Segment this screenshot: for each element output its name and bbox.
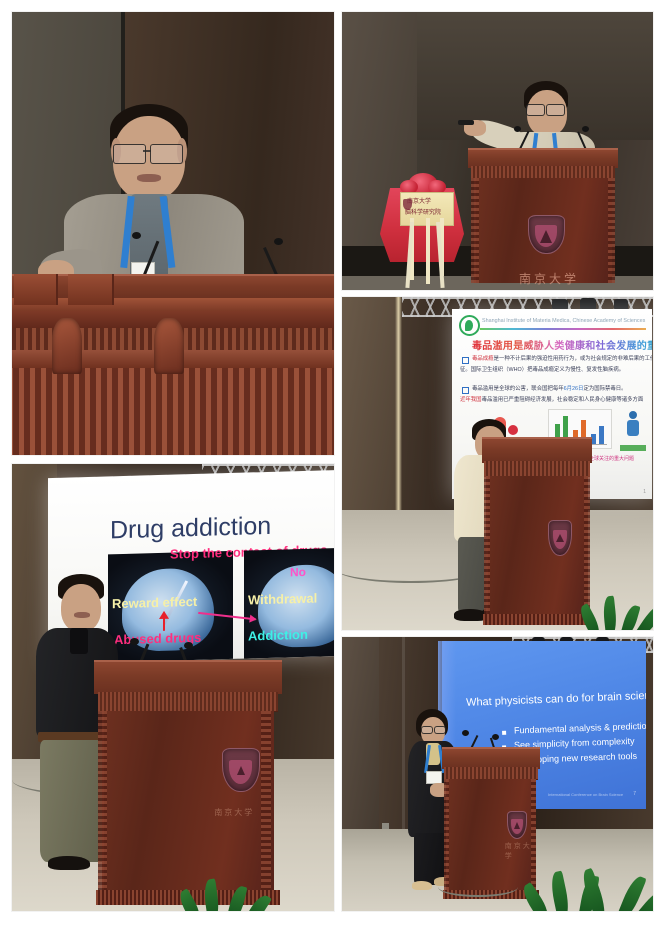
simm-logo-icon xyxy=(459,315,480,336)
podium-university-name: 南京大学 xyxy=(513,270,585,287)
crest-pagoda-icon xyxy=(540,230,552,243)
slide-bullet-2-line-2-text: 毒品滥用已严重阻碍经济发展，社会稳定和人民身心健康等诸多方面 xyxy=(482,397,644,403)
decorative-plant xyxy=(588,590,653,630)
plant-leaf-3 xyxy=(226,884,247,911)
podium-pilaster-left xyxy=(471,178,479,283)
podium-base xyxy=(483,614,591,625)
plaque-ribbon-2 xyxy=(426,218,430,284)
wooden-podium: 南京大学 xyxy=(442,747,540,899)
podium-body xyxy=(102,711,275,892)
microphone-head-right xyxy=(184,642,193,649)
presentation-clicker xyxy=(458,120,474,125)
speaker-mouth xyxy=(74,612,90,618)
crest-pagoda-icon xyxy=(237,766,245,775)
podium-pilaster-right xyxy=(261,711,270,892)
illustration-person-body xyxy=(627,420,639,436)
wooden-podium: 南京大学 xyxy=(468,148,618,290)
podium-pilaster-right xyxy=(531,779,536,892)
eyeglasses-right-lens-icon xyxy=(434,726,446,734)
eyeglasses-left-lens-icon xyxy=(421,726,433,734)
podium-top-rail xyxy=(94,660,282,694)
wooden-podium xyxy=(482,437,592,625)
speaker-collar xyxy=(70,628,88,654)
wooden-podium xyxy=(12,274,334,455)
slide-bullet-2-line-2: 近年我国毒品滥用已严重阻碍经济发展，社会稳定和人民身心健康等诸多方面 xyxy=(460,395,643,403)
microphone-head-right xyxy=(582,126,589,132)
podium-top-rail xyxy=(482,437,592,463)
podium-dentil-band xyxy=(12,368,334,455)
label-no: No xyxy=(290,565,306,579)
slide-footer: International Conference on Brain Scienc… xyxy=(548,792,623,797)
slide-bullet-1: Fundamental analysis & predictions xyxy=(514,721,646,736)
speaker-shoe xyxy=(48,856,90,870)
microphone-head-right xyxy=(492,734,499,740)
plant-leaf-2 xyxy=(602,596,618,630)
chart-bar-6 xyxy=(599,426,604,444)
slide-title: Drug addiction xyxy=(110,512,271,546)
microphone-head-right xyxy=(274,238,283,245)
podium-top-rail xyxy=(12,274,334,300)
podium-pilaster-right xyxy=(608,178,616,283)
eyeglasses-right-lens-icon xyxy=(150,144,183,164)
floor-cable xyxy=(438,877,518,897)
arrow-up-red-head xyxy=(159,611,169,619)
panel-brain-science-physics-lecture[interactable]: What physicists can do for brain science… xyxy=(342,637,653,911)
unveiling-plaque-assembly: 南京大学 脑科学研究院 xyxy=(380,170,464,290)
slide-bullet-1-line-1: 毒品成瘾是一种不计后果的强迫性用药行为，或为社会规定的非难后果的工作行 xyxy=(472,354,652,362)
slide-page-number: 1 xyxy=(643,489,646,495)
slide-bullet-2-text-2: 定为国际禁毒日。 xyxy=(583,386,626,392)
plant-leaf-2 xyxy=(202,879,221,911)
podium-reed-band xyxy=(484,461,590,477)
slide-bullet-marker-2 xyxy=(462,387,469,394)
brain-scan-right: No Withdrawal Addiction xyxy=(244,547,334,658)
slide-bullet-2-highlight: 6月26日 xyxy=(564,386,584,392)
decorative-plant xyxy=(538,857,653,911)
speaker-mouth xyxy=(137,174,161,182)
podium-university-name: 南京大学 xyxy=(505,841,534,853)
plant-leaf-3 xyxy=(620,604,640,630)
podium-corner-block-left xyxy=(14,274,58,305)
decorative-plant xyxy=(188,871,278,911)
microphone-head-left xyxy=(462,730,469,736)
microphone-head-left xyxy=(514,126,521,132)
brain-scan-left: Reward effect Abused drugs xyxy=(108,551,233,662)
eyeglasses-left-lens-icon xyxy=(526,104,545,116)
podium-corner-block-mid xyxy=(68,274,114,305)
podium-pilaster-left xyxy=(484,476,490,615)
slide-bullet-2-text: 毒品滥用是全球的公害，联合国把每年 xyxy=(472,386,564,392)
slide-bullet-marker-1 xyxy=(462,357,469,364)
eyeglasses-left-lens-icon xyxy=(113,144,146,164)
label-withdrawal: Withdrawal xyxy=(248,591,317,608)
slide-organization-line: Shanghai Institute of Materia Medica, Ch… xyxy=(482,318,645,324)
speaker-shoe-left xyxy=(412,881,432,890)
podium-pilaster-left xyxy=(98,711,107,892)
illustration-ground xyxy=(620,445,646,451)
illustration-person-head xyxy=(629,411,637,419)
slide-illustration-right xyxy=(620,409,646,451)
crest-pagoda-icon xyxy=(514,822,520,829)
slide-page-number: 7 xyxy=(633,791,636,797)
panel-speaker-portrait-podium[interactable] xyxy=(12,12,334,455)
illustration-pill-3 xyxy=(508,425,518,435)
podium-top-rail xyxy=(442,747,540,769)
speaker-head xyxy=(61,584,101,632)
slide-heading: What physicists can do for brain science… xyxy=(466,689,646,709)
slide-bullet-2-line-1: 毒品滥用是全球的公害，联合国把每年6月26日定为国际禁毒日。 xyxy=(472,384,627,392)
plant-leaf-4 xyxy=(245,892,272,911)
slide-title-cn: 毒品滥用是威胁人类健康和社会发展的重大问题 xyxy=(472,337,652,352)
slide-bullet-2-line-2-highlight: 近年我国 xyxy=(460,397,482,403)
podium-pilaster-left xyxy=(444,779,449,892)
plaque-crest-icon xyxy=(403,199,412,210)
slide-bullet-1-line-2: 征。国际卫生组织（WHO）把毒品成瘾定义为慢性、复发性脑疾病。 xyxy=(460,365,624,373)
university-crest-icon xyxy=(222,748,260,792)
podium-body xyxy=(486,476,587,615)
slide-bullet-1-text: 是一种不计后果的强迫性用药行为，或为社会规定的非难后果的工作行 xyxy=(494,356,652,362)
podium-carving-right xyxy=(154,318,184,374)
eyeglasses-right-lens-icon xyxy=(546,104,565,116)
photo-collage: 南京大学 南京大学 脑科学研究院 xyxy=(0,0,665,925)
wooden-podium: 南京大学 xyxy=(94,660,282,905)
slide-bullet-1-highlight: 毒品成瘾 xyxy=(472,356,494,362)
slide-rainbow-rule xyxy=(480,328,646,330)
podium-top-rail xyxy=(468,148,618,168)
university-crest-icon xyxy=(528,215,565,254)
microphone-head-left xyxy=(132,232,141,239)
plant-leaf-2 xyxy=(548,871,572,911)
label-addiction: Addiction xyxy=(248,627,308,644)
podium-university-name: 南京大学 xyxy=(214,807,270,827)
label-reward-effect: Reward effect xyxy=(112,594,197,611)
panel-unveiling-ceremony-speaker[interactable]: 南京大学 南京大学 脑科学研究院 xyxy=(342,12,653,290)
panel-drug-addiction-lecture[interactable]: Drug addiction Reward effect Abused drug… xyxy=(12,464,334,911)
crest-pagoda-icon xyxy=(556,534,564,542)
podium-molding xyxy=(12,298,334,311)
podium-reed-band xyxy=(98,692,279,713)
panel-simm-drug-abuse-lecture[interactable]: Shanghai Institute of Materia Medica, Ch… xyxy=(342,297,653,630)
eyeglasses-bridge-icon xyxy=(143,150,151,152)
podium-carving-left xyxy=(52,318,82,374)
microphone-head-left xyxy=(130,638,139,645)
